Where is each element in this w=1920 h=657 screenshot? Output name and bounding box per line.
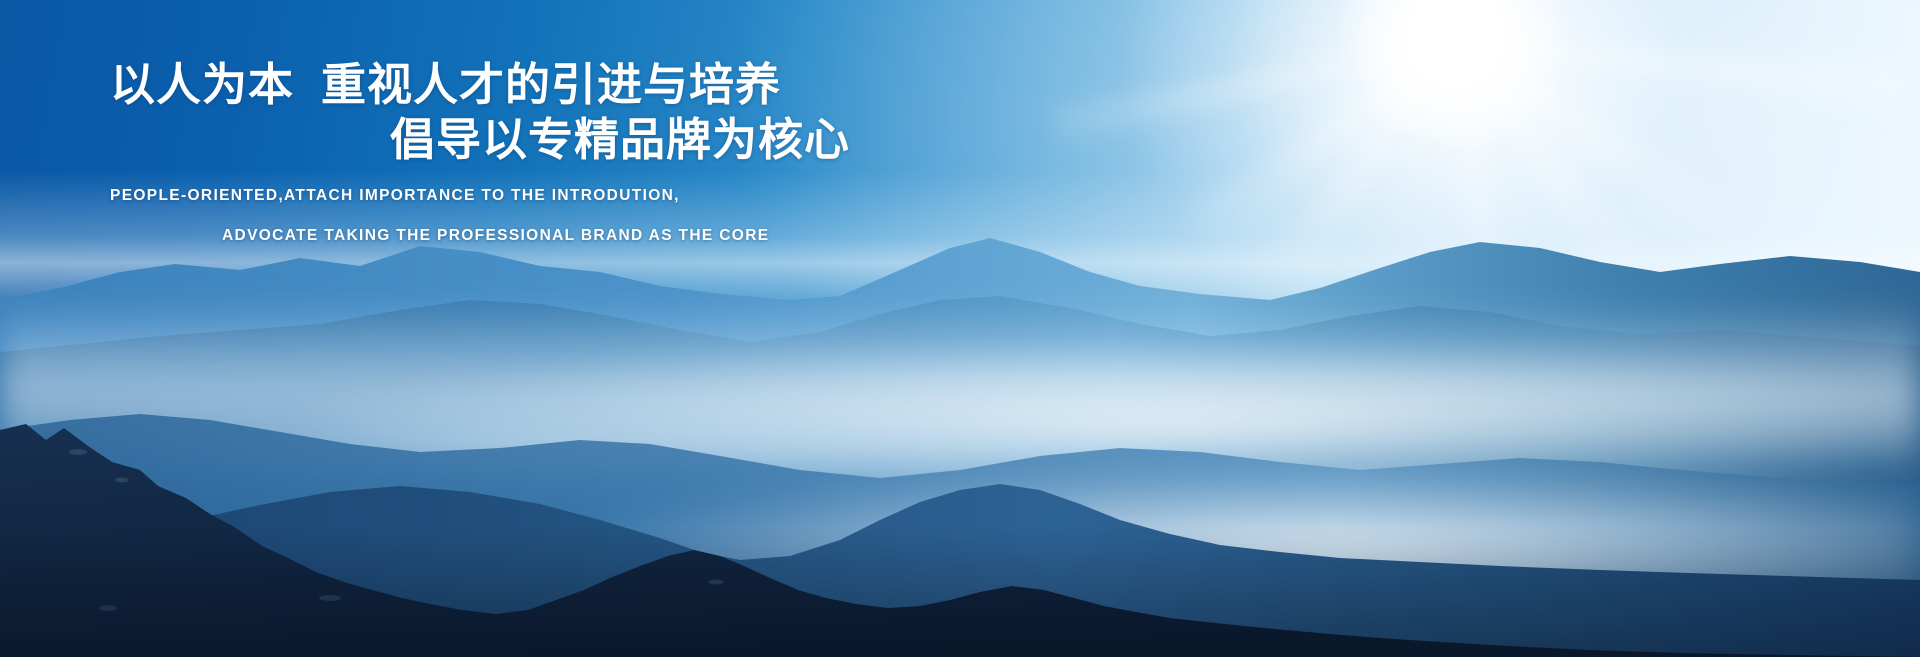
banner-copy: 以人为本 重视人才的引进与培养 倡导以专精品牌为核心 PEOPLE-ORIENT… [0, 0, 1920, 248]
subtitle-line-2: ADVOCATE TAKING THE PROFESSIONAL BRAND A… [110, 224, 1920, 248]
bottom-vignette [0, 527, 1920, 657]
headline-line-1: 以人为本 重视人才的引进与培养 [110, 58, 1920, 113]
headline-line-2: 倡导以专精品牌为核心 [110, 113, 1920, 168]
subtitle-line-1: PEOPLE-ORIENTED,ATTACH IMPORTANCE TO THE… [110, 184, 1920, 208]
hero-banner: 以人为本 重视人才的引进与培养 倡导以专精品牌为核心 PEOPLE-ORIENT… [0, 0, 1920, 657]
